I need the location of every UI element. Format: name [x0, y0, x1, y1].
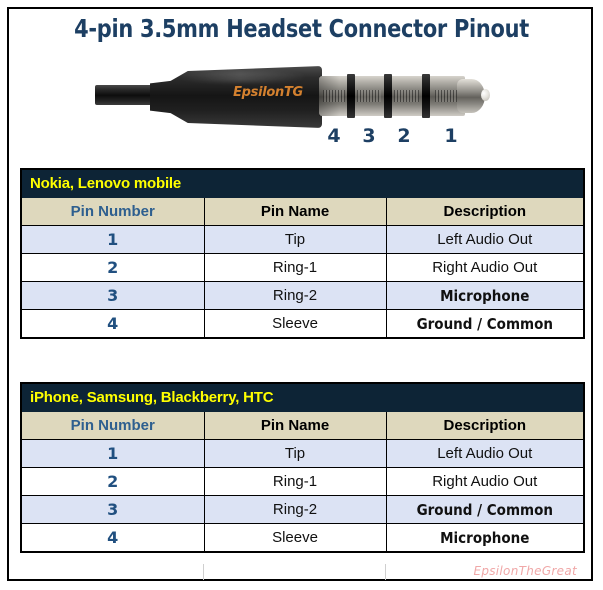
pinout-table-iphone-samsung: iPhone, Samsung, Blackberry, HTC Pin Num…	[20, 382, 585, 553]
insulator-ring-3	[422, 74, 430, 118]
cell-description: Left Audio Out	[386, 226, 584, 254]
cell-description: Right Audio Out	[386, 468, 584, 496]
pin-marker-3: 3	[358, 125, 380, 147]
insulator-ring-1	[347, 74, 355, 118]
cell-pin-number: 2	[21, 468, 204, 496]
table-column-header-row: Pin Number Pin Name Description	[21, 198, 584, 226]
cell-description: Microphone	[386, 524, 584, 553]
cell-pin-number: 3	[21, 282, 204, 310]
cell-description: Ground / Common	[386, 310, 584, 339]
table-row: 1 Tip Left Audio Out	[21, 440, 584, 468]
table-row: 4 Sleeve Microphone	[21, 524, 584, 553]
table-group-header-row: Nokia, Lenovo mobile	[21, 169, 584, 198]
cell-pin-name: Ring-1	[204, 468, 386, 496]
pinout-table-nokia-lenovo: Nokia, Lenovo mobile Pin Number Pin Name…	[20, 168, 585, 339]
pin-marker-4: 4	[323, 125, 345, 147]
column-header-description: Description	[386, 412, 584, 440]
contact-segment-3	[357, 90, 381, 102]
contact-segment-2	[394, 90, 419, 102]
column-header-pin-name: Pin Name	[204, 198, 386, 226]
housing-highlight	[175, 71, 305, 82]
table-tail-row: EpsilonTheGreat	[20, 564, 583, 580]
contact-segment-4	[323, 90, 345, 102]
tail-divider-2	[385, 564, 386, 580]
group-title: iPhone, Samsung, Blackberry, HTC	[21, 383, 584, 412]
pin-marker-row: 4 3 2 1	[95, 125, 495, 151]
plug-tip-nub	[481, 89, 490, 101]
column-header-pin-number: Pin Number	[21, 198, 204, 226]
tail-divider-1	[203, 564, 204, 580]
insulator-ring-2	[384, 74, 392, 118]
column-header-pin-name: Pin Name	[204, 412, 386, 440]
cell-pin-number: 1	[21, 440, 204, 468]
page-title: 4-pin 3.5mm Headset Connector Pinout	[21, 14, 582, 43]
cell-pin-name: Sleeve	[204, 310, 386, 339]
column-header-pin-number: Pin Number	[21, 412, 204, 440]
table-column-header-row: Pin Number Pin Name Description	[21, 412, 584, 440]
table-row: 2 Ring-1 Right Audio Out	[21, 254, 584, 282]
brand-label: EpsilonTG	[213, 85, 323, 100]
table-group-header-row: iPhone, Samsung, Blackberry, HTC	[21, 383, 584, 412]
pin-marker-2: 2	[393, 125, 415, 147]
table-row: 1 Tip Left Audio Out	[21, 226, 584, 254]
cell-pin-number: 4	[21, 310, 204, 339]
cell-pin-name: Ring-1	[204, 254, 386, 282]
pin-marker-1: 1	[440, 125, 462, 147]
table-row: 3 Ring-2 Ground / Common	[21, 496, 584, 524]
cell-description: Left Audio Out	[386, 440, 584, 468]
watermark: EpsilonTheGreat	[473, 564, 577, 578]
table-row: 3 Ring-2 Microphone	[21, 282, 584, 310]
cell-pin-number: 2	[21, 254, 204, 282]
cell-pin-name: Tip	[204, 440, 386, 468]
cell-pin-number: 1	[21, 226, 204, 254]
cell-pin-number: 4	[21, 524, 204, 553]
table-row: 4 Sleeve Ground / Common	[21, 310, 584, 339]
table-row: 2 Ring-1 Right Audio Out	[21, 468, 584, 496]
cable-icon	[95, 85, 157, 105]
pinout-infographic: 4-pin 3.5mm Headset Connector Pinout Eps…	[0, 0, 603, 590]
cell-description: Microphone	[386, 282, 584, 310]
cell-pin-name: Ring-2	[204, 282, 386, 310]
cell-description: Ground / Common	[386, 496, 584, 524]
cell-pin-number: 3	[21, 496, 204, 524]
cell-description: Right Audio Out	[386, 254, 584, 282]
column-header-description: Description	[386, 198, 584, 226]
cell-pin-name: Ring-2	[204, 496, 386, 524]
cell-pin-name: Tip	[204, 226, 386, 254]
cell-pin-name: Sleeve	[204, 524, 386, 553]
group-title: Nokia, Lenovo mobile	[21, 169, 584, 198]
